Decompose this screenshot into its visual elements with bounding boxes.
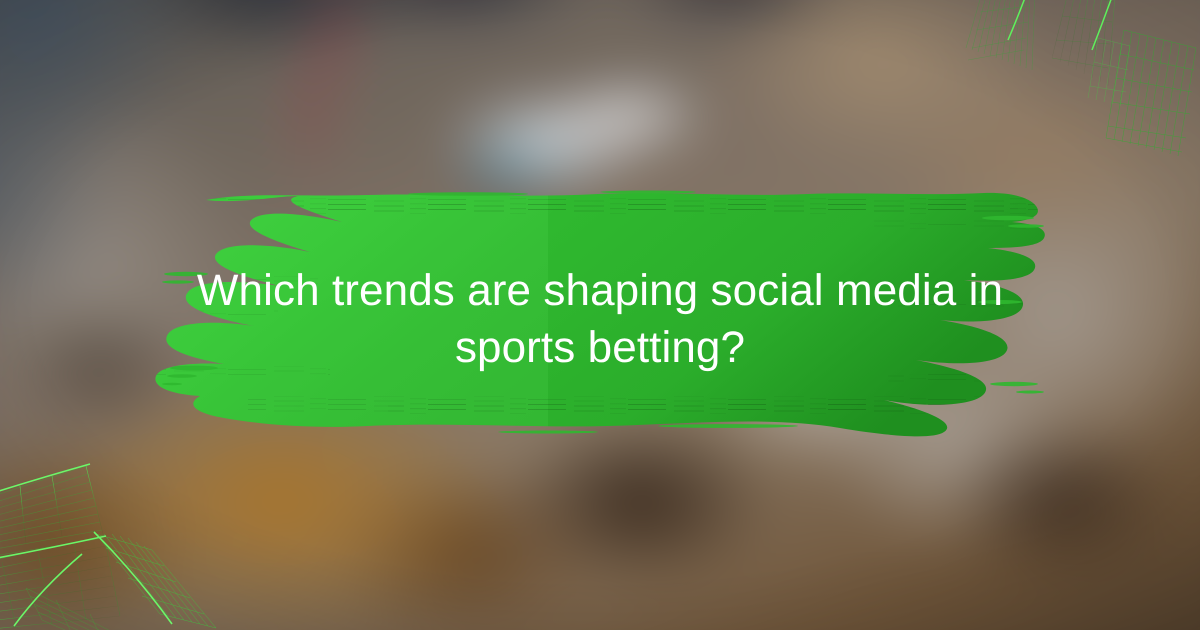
share-card: Which trends are shaping social media in…	[0, 0, 1200, 630]
page-title: Which trends are shaping social media in…	[150, 262, 1050, 376]
